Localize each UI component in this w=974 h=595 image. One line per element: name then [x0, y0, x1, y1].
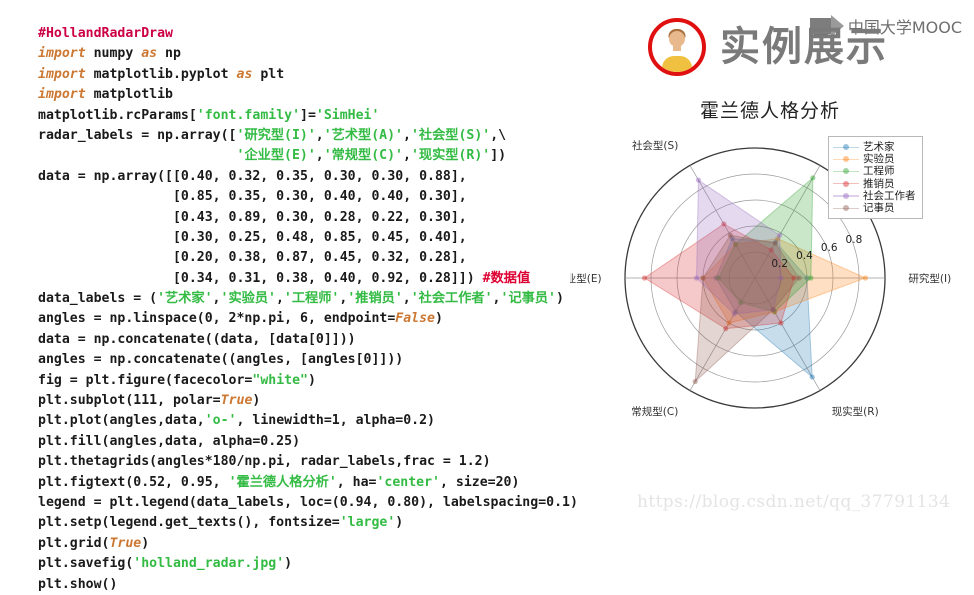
legend-marker-icon — [833, 154, 859, 164]
hero-title: 实例展示 — [720, 27, 888, 67]
legend-item: 工程师 — [833, 165, 916, 177]
legend-label: 社会工作者 — [863, 190, 916, 202]
code-line: plt.figtext(0.52, 0.95, '霍兰德人格分析', ha='c… — [38, 473, 580, 493]
legend-marker-icon — [833, 166, 859, 176]
code-line: legend = plt.legend(data_labels, loc=(0.… — [38, 493, 580, 513]
code-line: angles = np.concatenate((angles, [angles… — [38, 350, 580, 370]
chart-legend: 艺术家实验员工程师推销员社会工作者记事员 — [828, 136, 923, 219]
code-panel: #HollandRadarDrawimport numpy as npimpor… — [0, 0, 580, 528]
radial-tick-label: 0.6 — [821, 242, 838, 254]
hero-banner: 实例展示 — [648, 18, 888, 76]
legend-label: 记事员 — [863, 202, 895, 214]
legend-marker-icon — [833, 142, 859, 152]
code-line: import numpy as np — [38, 44, 580, 64]
legend-marker-icon — [833, 203, 859, 213]
code-line: plt.grid(True) — [38, 534, 580, 554]
legend-item: 实验员 — [833, 153, 916, 165]
code-line: [0.30, 0.25, 0.48, 0.85, 0.45, 0.40], — [38, 228, 580, 248]
code-line: plt.setp(legend.get_texts(), fontsize='l… — [38, 513, 580, 533]
code-line: import matplotlib.pyplot as plt — [38, 65, 580, 85]
code-line: plt.thetagrids(angles*180/np.pi, radar_l… — [38, 452, 580, 472]
legend-marker-icon — [833, 179, 859, 189]
code-line: [0.20, 0.38, 0.87, 0.45, 0.32, 0.28], — [38, 248, 580, 268]
code-line: plt.savefig('holland_radar.jpg') — [38, 554, 580, 574]
code-line: #HollandRadarDraw — [38, 24, 580, 44]
code-line: plt.plot(angles,data,'o-', linewidth=1, … — [38, 411, 580, 431]
radial-tick-label: 0.2 — [771, 258, 788, 270]
axis-label: 现实型(R) — [832, 405, 879, 418]
code-line: plt.subplot(111, polar=True) — [38, 391, 580, 411]
axis-label: 常规型(C) — [631, 405, 678, 418]
code-line: data = np.array([[0.40, 0.32, 0.35, 0.30… — [38, 167, 580, 187]
radial-tick-label: 0.8 — [846, 234, 863, 246]
legend-label: 实验员 — [863, 153, 895, 165]
code-line: [0.43, 0.89, 0.30, 0.28, 0.22, 0.30], — [38, 208, 580, 228]
legend-item: 推销员 — [833, 178, 916, 190]
axis-label: 社会型(S) — [632, 139, 678, 152]
code-line: import matplotlib — [38, 85, 580, 105]
legend-label: 推销员 — [863, 178, 895, 190]
legend-item: 艺术家 — [833, 141, 916, 153]
code-line: angles = np.linspace(0, 2*np.pi, 6, endp… — [38, 309, 580, 329]
legend-marker-icon — [833, 191, 859, 201]
csdn-watermark: https://blog.csdn.net/qq_37791134 — [637, 492, 950, 512]
code-line: fig = plt.figure(facecolor="white") — [38, 371, 580, 391]
code-line: data_labels = ('艺术家','实验员','工程师','推销员','… — [38, 289, 580, 309]
code-line: '企业型(E)','常规型(C)','现实型(R)']) — [38, 146, 580, 166]
code-line: matplotlib.rcParams['font.family']='SimH… — [38, 106, 580, 126]
radial-tick-label: 0.4 — [796, 250, 813, 262]
code-line: plt.fill(angles,data, alpha=0.25) — [38, 432, 580, 452]
legend-item: 社会工作者 — [833, 190, 916, 202]
radar-chart: 霍兰德人格分析 0.20.40.60.8研究型(I)艺术型(A)社会型(S)企业… — [570, 96, 970, 446]
axis-label: 研究型(I) — [908, 272, 951, 285]
legend-item: 记事员 — [833, 202, 916, 214]
code-line: [0.85, 0.35, 0.30, 0.40, 0.40, 0.30], — [38, 187, 580, 207]
user-avatar-icon — [648, 18, 706, 76]
python-source-code: #HollandRadarDrawimport numpy as npimpor… — [38, 24, 580, 595]
code-line: radar_labels = np.array(['研究型(I)','艺术型(A… — [38, 126, 580, 146]
legend-label: 工程师 — [863, 165, 895, 177]
code-line: [0.34, 0.31, 0.38, 0.40, 0.92, 0.28]]) #… — [38, 269, 580, 289]
slide-root: #HollandRadarDrawimport numpy as npimpor… — [0, 0, 974, 528]
axis-label: 企业型(E) — [570, 272, 602, 285]
legend-label: 艺术家 — [863, 141, 895, 153]
code-line: data = np.concatenate((data, [data[0]])) — [38, 330, 580, 350]
code-line: plt.show() — [38, 575, 580, 595]
